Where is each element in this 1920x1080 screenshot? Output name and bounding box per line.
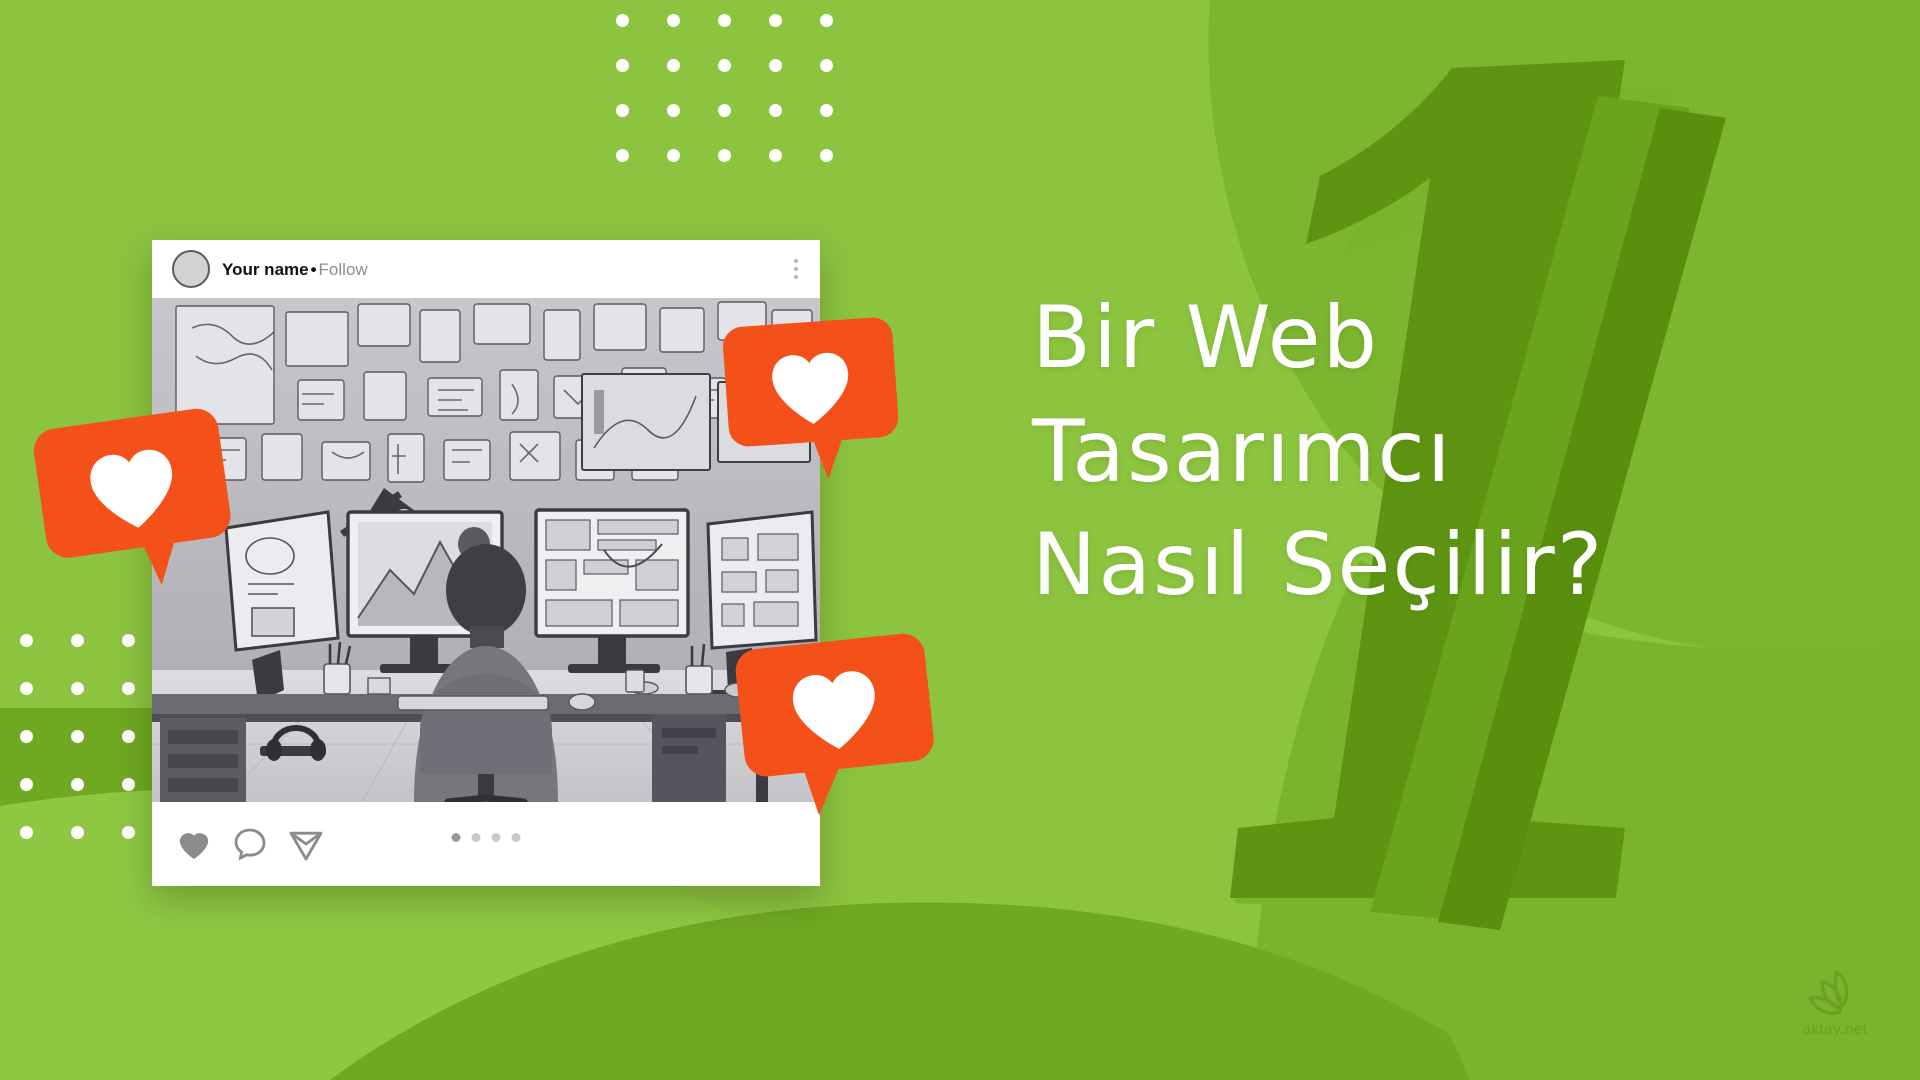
heart-bubble-bottom [734, 632, 941, 823]
grid-dot [769, 14, 782, 27]
heart-bubble-left [31, 406, 239, 600]
grid-dot [71, 778, 84, 791]
avatar[interactable] [172, 250, 210, 288]
carousel-dot[interactable] [512, 833, 521, 842]
grid-dot [20, 730, 33, 743]
grid-dot [20, 778, 33, 791]
post-user-line: Your name•Follow [222, 261, 778, 278]
grid-dot [122, 778, 135, 791]
grid-dot [718, 59, 731, 72]
grid-dot [820, 14, 833, 27]
grid-dot [20, 682, 33, 695]
carousel-dots[interactable] [452, 833, 521, 842]
grid-dot [820, 59, 833, 72]
more-dot [794, 259, 798, 263]
more-options-icon[interactable] [790, 253, 802, 285]
page-title: Bir Web Tasarımcı Nasıl Seçilir? [1032, 282, 1772, 623]
grid-dot [71, 730, 84, 743]
share-icon[interactable] [286, 824, 326, 864]
grid-dot [820, 104, 833, 117]
grid-dot [616, 14, 629, 27]
follow-button[interactable]: Follow [319, 260, 368, 279]
grid-dot [122, 826, 135, 839]
grid-dot [769, 59, 782, 72]
heart-bubble-middle [722, 316, 903, 485]
heart-icon[interactable] [174, 824, 214, 864]
carousel-dot[interactable] [492, 833, 501, 842]
grid-dot [71, 826, 84, 839]
separator-dot: • [309, 260, 319, 279]
grid-dot [71, 634, 84, 647]
grid-dot [20, 826, 33, 839]
title-line-3: Nasıl Seçilir? [1032, 509, 1772, 623]
grid-dot [667, 59, 680, 72]
grid-dot [71, 682, 84, 695]
grid-dot [667, 14, 680, 27]
watermark-text: aktay.net [1780, 1021, 1890, 1038]
grid-dot [820, 149, 833, 162]
grid-dot [616, 59, 629, 72]
carousel-dot[interactable] [472, 833, 481, 842]
post-header: Your name•Follow [152, 240, 820, 298]
dot-grid-top [616, 14, 826, 154]
leaf-logo-icon [1806, 968, 1864, 1018]
carousel-dot[interactable] [452, 833, 461, 842]
grid-dot [20, 634, 33, 647]
grid-dot [122, 730, 135, 743]
grid-dot [122, 634, 135, 647]
grid-dot [769, 104, 782, 117]
post-photo[interactable] [152, 298, 820, 802]
username-label[interactable]: Your name [222, 260, 309, 279]
post-action-bar [152, 802, 820, 886]
grid-dot [667, 104, 680, 117]
grid-dot [616, 149, 629, 162]
instagram-post-card: Your name•Follow [152, 240, 820, 886]
dot-grid-bottom [20, 634, 150, 824]
grid-dot [667, 149, 680, 162]
grid-dot [718, 149, 731, 162]
title-line-2: Tasarımcı [1032, 396, 1772, 510]
grid-dot [616, 104, 629, 117]
title-line-1: Bir Web [1032, 282, 1772, 396]
more-dot [794, 267, 798, 271]
grid-dot [718, 104, 731, 117]
grid-dot [122, 682, 135, 695]
comment-icon[interactable] [230, 824, 270, 864]
watermark: aktay.net [1780, 968, 1890, 1038]
grid-dot [718, 14, 731, 27]
grid-dot [769, 149, 782, 162]
designer-workspace-illustration [152, 298, 820, 802]
more-dot [794, 275, 798, 279]
